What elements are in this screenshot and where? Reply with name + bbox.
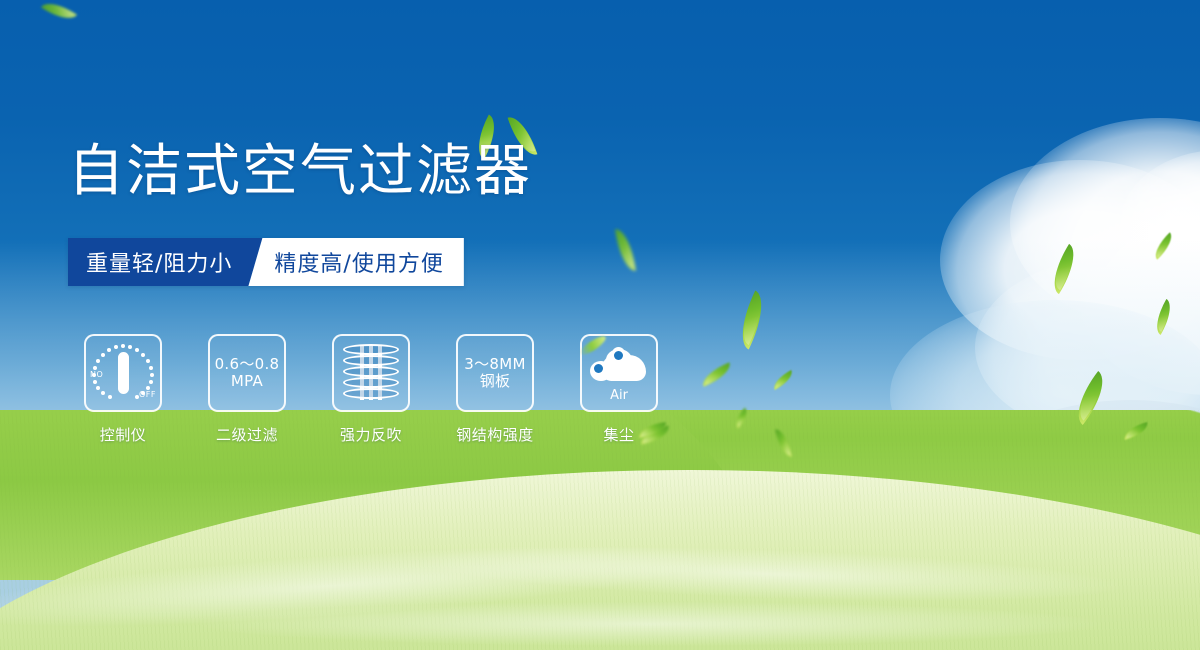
- feature-label: 钢结构强度: [456, 424, 534, 445]
- pressure-text-icon: 0.6～0.8 MPA: [215, 356, 280, 390]
- product-hero-banner: 自洁式空气过滤器 重量轻/阻力小 精度高/使用方便: [0, 0, 1200, 650]
- banner-content: 自洁式空气过滤器 重量轻/阻力小 精度高/使用方便: [0, 0, 1200, 650]
- cloud-small-cutout: [594, 364, 603, 373]
- feature-icon-box: Air: [580, 334, 658, 412]
- gauge-on-label: NO: [90, 370, 103, 379]
- subtitle-right-tag: 精度高/使用方便: [248, 238, 463, 286]
- leaf-streak: [578, 333, 608, 357]
- feature-icon-box: NO OFF: [84, 334, 162, 412]
- feature-item-controller[interactable]: NO OFF 控制仪: [72, 334, 174, 445]
- feature-item-steel-strength[interactable]: 3～8MM 钢板 钢结构强度: [444, 334, 546, 445]
- feature-label: 二级过滤: [216, 424, 278, 445]
- gauge-dial-icon: NO OFF: [90, 342, 156, 404]
- pressure-value: 0.6～0.8: [215, 356, 280, 373]
- steel-thickness: 3～8MM: [464, 356, 525, 373]
- filter-stack-icon: [343, 344, 399, 402]
- feature-icon-box: 0.6～0.8 MPA: [208, 334, 286, 412]
- subtitle-bar: 重量轻/阻力小 精度高/使用方便: [68, 238, 464, 286]
- steel-material: 钢板: [464, 373, 525, 390]
- stack-ring: [343, 366, 399, 377]
- air-label: Air: [588, 388, 650, 403]
- subtitle-left-tag: 重量轻/阻力小: [68, 238, 262, 286]
- stack-ring: [343, 344, 399, 355]
- page-title: 自洁式空气过滤器: [68, 144, 532, 200]
- cloud-air-icon: Air: [588, 345, 650, 401]
- gauge-needle: [118, 352, 129, 394]
- feature-label: 集尘: [603, 424, 634, 445]
- feature-icon-box: 3～8MM 钢板: [456, 334, 534, 412]
- steel-plate-text-icon: 3～8MM 钢板: [464, 356, 525, 390]
- sun-cutout: [614, 351, 623, 360]
- stack-ring: [343, 355, 399, 366]
- feature-item-dust-collection[interactable]: Air 集尘: [568, 334, 670, 445]
- feature-item-back-blow[interactable]: 强力反吹: [320, 334, 422, 445]
- feature-list: NO OFF 控制仪 0.6～0.8 MPA 二级过滤: [72, 334, 670, 445]
- feature-label: 控制仪: [100, 424, 147, 445]
- feature-label: 强力反吹: [340, 424, 402, 445]
- stack-ring: [343, 388, 399, 399]
- gauge-off-label: OFF: [139, 390, 156, 399]
- pressure-unit: MPA: [215, 373, 280, 390]
- feature-item-two-stage-filter[interactable]: 0.6～0.8 MPA 二级过滤: [196, 334, 298, 445]
- feature-icon-box: [332, 334, 410, 412]
- stack-ring: [343, 377, 399, 388]
